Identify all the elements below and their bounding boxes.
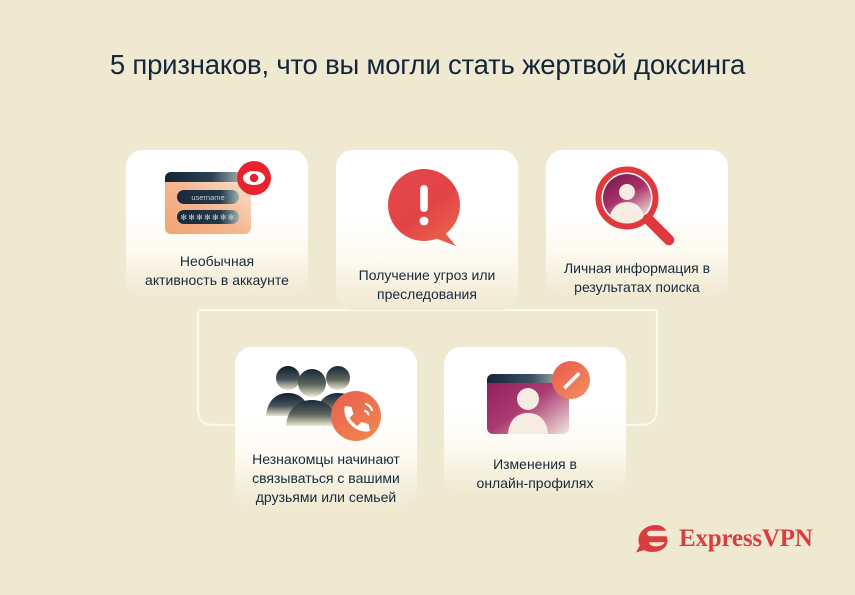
magnifier-person-icon	[585, 160, 689, 256]
card-profile-changes[interactable]: Изменения в онлайн-профилях	[444, 347, 626, 494]
card-label: Получение угроз или преследования	[353, 266, 502, 304]
page-title: 5 признаков, что вы могли стать жертвой …	[0, 48, 855, 81]
card-threats-harassment[interactable]: Получение угроз или преследования	[336, 150, 518, 310]
card-unusual-account-activity[interactable]: username ✻✻✻✻✻✻✻ Необычная активность в …	[126, 150, 308, 297]
card-label: Необычная активность в аккаунте	[139, 252, 295, 290]
expressvpn-logo-text: ExpressVPN	[679, 525, 813, 553]
expressvpn-e-mark	[634, 522, 670, 556]
magnifier-person-icon-wrap	[546, 150, 728, 259]
username-field-value: username	[191, 193, 224, 202]
phone-ringing-badge	[331, 391, 381, 441]
login-form-icon: username ✻✻✻✻✻✻✻	[157, 160, 277, 248]
password-field-value: ✻✻✻✻✻✻✻	[180, 213, 235, 222]
login-form-icon-wrap: username ✻✻✻✻✻✻✻	[126, 150, 308, 252]
profile-card-icon	[477, 360, 593, 448]
profile-card-icon-wrap	[444, 347, 626, 455]
people-group-icon-wrap	[235, 347, 417, 450]
speech-bubble-alert-icon	[377, 163, 477, 261]
card-label: Личная информация в результатах поиска	[558, 259, 716, 297]
card-label: Незнакомцы начинают связываться с вашими…	[246, 450, 406, 507]
card-label: Изменения в онлайн-профилях	[471, 455, 600, 493]
infographic-canvas: 5 признаков, что вы могли стать жертвой …	[0, 0, 855, 595]
speech-bubble-alert-icon-wrap	[336, 150, 518, 266]
card-strangers-contacting[interactable]: Незнакомцы начинают связываться с вашими…	[235, 347, 417, 507]
card-personal-info-search[interactable]: Личная информация в результатах поиска	[546, 150, 728, 297]
expressvpn-logo[interactable]: ExpressVPN	[634, 522, 813, 556]
people-group-icon	[262, 356, 390, 448]
